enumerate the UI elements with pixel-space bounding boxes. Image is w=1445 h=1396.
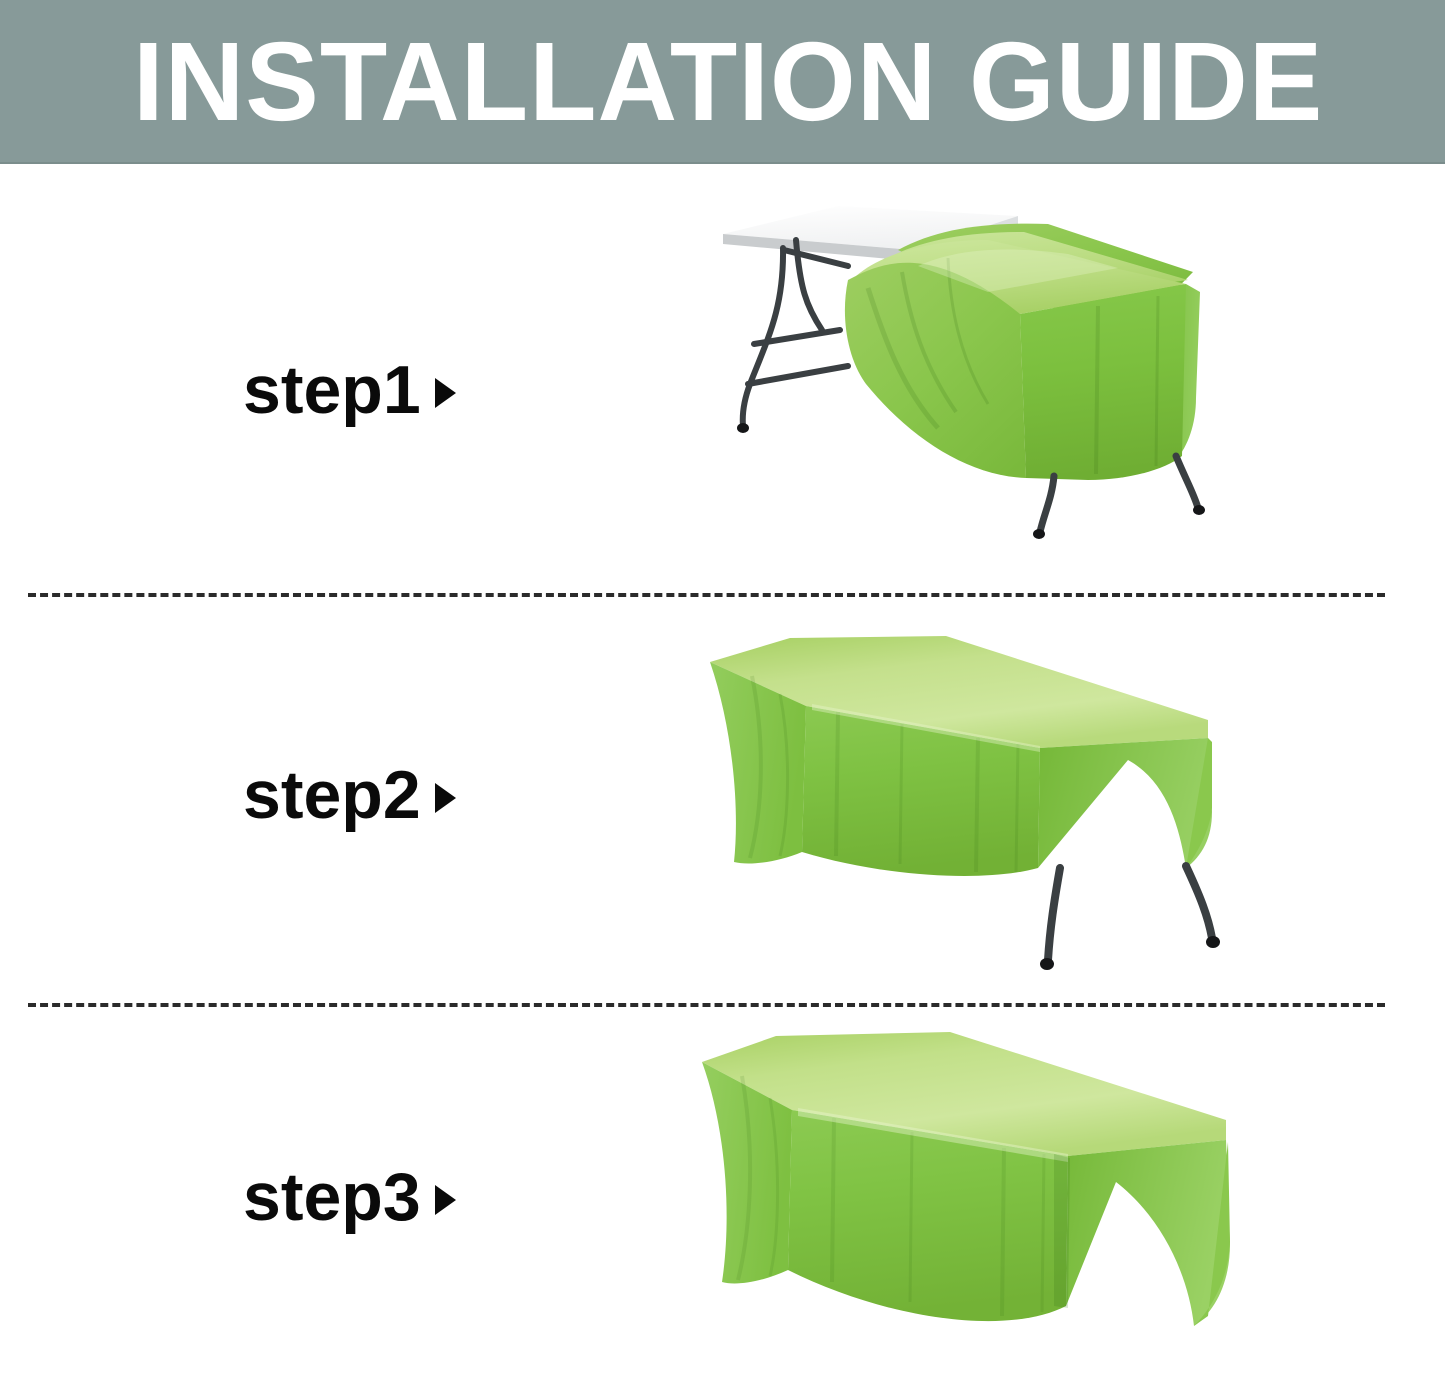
cover-right-panel — [1066, 1140, 1230, 1326]
table-legs — [1048, 866, 1212, 960]
installation-guide-page: INSTALLATION GUIDE step1 — [0, 0, 1445, 1396]
step-row-2: step2 — [0, 596, 1445, 996]
folding-table-partially-covered-illustration — [688, 188, 1228, 548]
step-label-2-text: step2 — [243, 761, 421, 829]
step-label-3: step3 — [243, 1163, 456, 1231]
cover-corner-shadow — [1054, 1154, 1070, 1308]
page-title: INSTALLATION GUIDE — [133, 22, 1300, 142]
table-feet-left — [737, 423, 749, 433]
step-row-1: step1 — [0, 166, 1445, 594]
triangle-right-icon — [435, 783, 456, 813]
step-label-3-text: step3 — [243, 1163, 421, 1231]
folding-table-cover-fitted-illustration — [688, 1016, 1240, 1388]
cover-right-panel — [1038, 738, 1212, 868]
step-label-2: step2 — [243, 761, 456, 829]
step-row-3: step3 — [0, 998, 1445, 1396]
triangle-right-icon — [435, 1185, 456, 1215]
table-legs-left — [743, 240, 848, 426]
step-label-1: step1 — [243, 356, 456, 424]
header-band: INSTALLATION GUIDE — [0, 0, 1445, 164]
table-feet — [1040, 936, 1220, 970]
step-label-1-text: step1 — [243, 356, 421, 424]
table-feet-right — [1033, 505, 1205, 539]
folding-table-cover-pulled-on-illustration — [688, 616, 1236, 994]
triangle-right-icon — [435, 378, 456, 408]
